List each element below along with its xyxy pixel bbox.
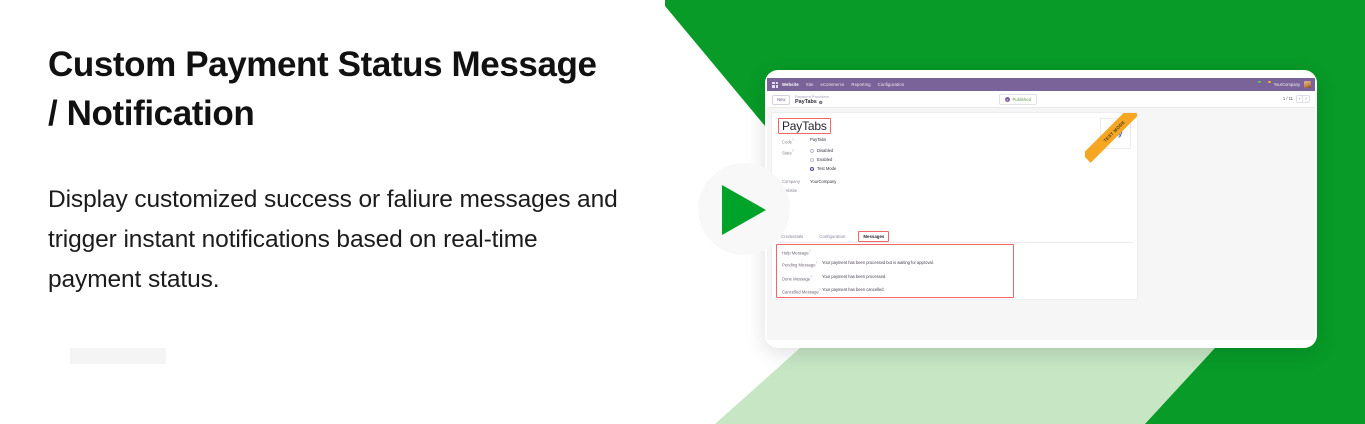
promo-text-panel: Custom Payment Status Message / Notifica…: [0, 0, 665, 424]
apps-grid-icon[interactable]: [772, 82, 778, 88]
avatar[interactable]: [1304, 81, 1311, 88]
provider-logo[interactable]: Pay: [1100, 118, 1131, 149]
field-done-message-value[interactable]: Your payment has been processed.: [822, 274, 886, 280]
notebook-tabs: Credentials Configuration Messages: [778, 232, 1133, 243]
app-viewport: Website Site eCommerce Reporting Configu…: [767, 78, 1315, 340]
menu-item-ecommerce[interactable]: eCommerce: [821, 82, 845, 87]
messages-panel: Help Message? Pending Message? Your paym…: [774, 244, 1136, 299]
menu-item-site[interactable]: Site: [806, 82, 814, 87]
radio-disabled-dot: [810, 149, 814, 153]
menu-item-website[interactable]: Website: [782, 82, 799, 87]
field-code-value[interactable]: PayTabs: [810, 137, 826, 143]
field-cancelled-message-value[interactable]: Your payment has been cancelled.: [822, 287, 885, 293]
messages-icon[interactable]: ●: [1254, 82, 1260, 88]
field-state: State? Disabled Enabled: [782, 148, 1002, 172]
radio-enabled-label: Enabled: [817, 157, 832, 163]
green-shape-bottom-light: [715, 348, 1215, 424]
field-pending-message: Pending Message? Your payment has been p…: [782, 260, 934, 268]
field-cancelled-message: Cancelled Message? Your payment has been…: [782, 287, 885, 295]
provider-logo-text: Pay: [1109, 129, 1122, 138]
radio-enabled-dot: [810, 158, 814, 162]
breadcrumb: Payment Providers PayTabs ⚙: [795, 94, 829, 106]
published-button[interactable]: ◐ Published: [999, 94, 1037, 105]
radio-test-mode[interactable]: Test Mode: [810, 166, 836, 172]
chevron-right-icon[interactable]: ›: [1303, 95, 1310, 103]
field-done-message: Done Message? Your payment has been proc…: [782, 274, 886, 282]
field-pending-message-label: Pending Message?: [782, 260, 822, 268]
promo-description: Display customized success or faliure me…: [48, 180, 628, 300]
play-icon: [722, 185, 766, 235]
field-code-label: Code?: [782, 137, 810, 145]
field-state-label: State?: [782, 148, 810, 156]
field-cancelled-message-label: Cancelled Message?: [782, 287, 822, 295]
app-control-bar: New Payment Providers PayTabs ⚙ ◐ Publis…: [767, 91, 1315, 108]
decorative-bar: [70, 348, 166, 364]
activities-icon[interactable]: ●: [1264, 82, 1270, 88]
state-radio-group: Disabled Enabled Test Mode: [810, 148, 836, 172]
radio-test-mode-dot: [810, 167, 814, 171]
breadcrumb-current-label: PayTabs: [795, 99, 817, 106]
record-pager: 1 / 11 ‹ ›: [1283, 95, 1310, 103]
chevron-left-icon[interactable]: ‹: [1296, 95, 1303, 103]
pager-count: 1 / 11: [1283, 96, 1293, 101]
tab-messages[interactable]: Messages: [858, 231, 889, 242]
promo-banner: Custom Payment Status Message / Notifica…: [0, 0, 1365, 424]
published-label: Published: [1013, 97, 1031, 103]
sheet-bottom-padding: [771, 302, 1311, 336]
app-screenshot-window: Website Site eCommerce Reporting Configu…: [765, 70, 1317, 348]
record-form-sheet: PayTabs Pay TEST MODE Code? PayTabs: [771, 112, 1138, 300]
company-name[interactable]: YourCompany: [1274, 82, 1300, 87]
tab-configuration[interactable]: Configuration: [816, 234, 848, 242]
menu-item-reporting[interactable]: Reporting: [851, 82, 870, 87]
field-company-value[interactable]: YourCompany: [810, 179, 836, 185]
pager-arrows: ‹ ›: [1296, 95, 1310, 103]
breadcrumb-current: PayTabs ⚙: [795, 99, 829, 106]
field-done-message-label: Done Message?: [782, 274, 822, 282]
app-menu: Website Site eCommerce Reporting Configu…: [782, 82, 904, 87]
form-fields: Code? PayTabs State? Disabled: [782, 137, 1002, 196]
page-title: Custom Payment Status Message / Notifica…: [48, 40, 608, 138]
field-website: Website: [782, 188, 1002, 194]
gear-icon[interactable]: ⚙: [819, 99, 823, 106]
field-pending-message-value[interactable]: Your payment has been processed but is w…: [822, 260, 934, 266]
globe-icon: ◐: [1005, 97, 1010, 102]
field-company: Company YourCompany: [782, 179, 1002, 185]
menu-item-configuration[interactable]: Configuration: [878, 82, 904, 87]
radio-enabled[interactable]: Enabled: [810, 157, 836, 163]
radio-test-mode-label: Test Mode: [817, 166, 836, 172]
radio-disabled-label: Disabled: [817, 148, 833, 154]
radio-disabled[interactable]: Disabled: [810, 148, 836, 154]
play-button[interactable]: [698, 163, 790, 255]
app-topbar-right: ● ● YourCompany: [1254, 78, 1311, 91]
record-title[interactable]: PayTabs: [778, 118, 831, 134]
new-button[interactable]: New: [772, 95, 790, 105]
field-code: Code? PayTabs: [782, 137, 1002, 145]
app-topbar: Website Site eCommerce Reporting Configu…: [767, 78, 1315, 91]
